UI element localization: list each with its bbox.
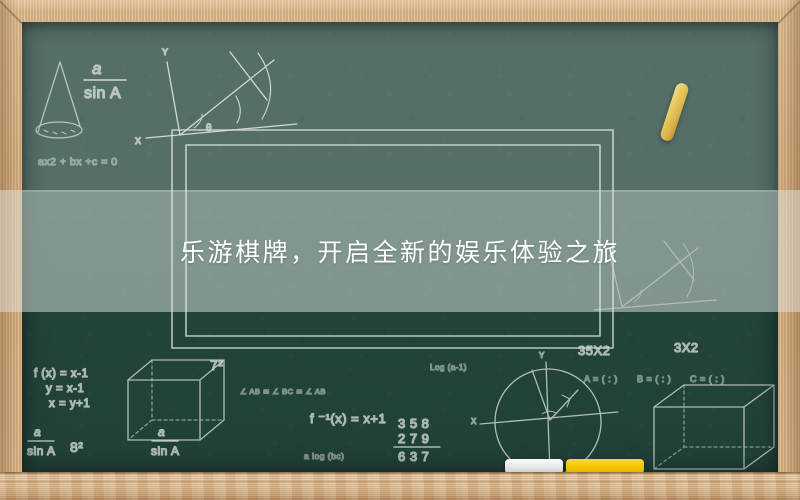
cone-drawing <box>36 62 82 138</box>
ledge-grain-streaks <box>0 472 800 500</box>
axis-label-x-top: X <box>135 136 142 146</box>
axis-label-y-right: Y <box>539 351 545 360</box>
log-small-label: Log (a-1) <box>430 363 467 372</box>
angle-diagram: Y X θ <box>135 47 297 146</box>
matrix-expression-c: C = ( : ) <box>690 374 725 384</box>
inverse-function-expression: f ⁻¹(x) = x+1 <box>310 411 386 426</box>
caption-band: 乐游棋牌，开启全新的娱乐体验之旅 <box>0 190 800 312</box>
square-eight: 8² <box>70 439 83 455</box>
angle-symbol-top: θ <box>206 123 212 134</box>
fraction-a-over-sinA-cube: a sin A <box>151 425 180 458</box>
axis-label-x-right: X <box>471 417 477 426</box>
square-seven: 7² <box>210 357 223 373</box>
matrix-label-b: 3X2 <box>674 340 699 355</box>
quadratic-equation: ax2 + bx +c = 0 <box>38 156 118 168</box>
ledge-lip-line <box>0 481 800 482</box>
fraction-a-over-sinA-bottom-left: a sin A <box>27 425 56 458</box>
matrix-expression-b: B = ( : ) <box>637 374 671 384</box>
function-line-1: f (x) = x-1 <box>34 368 88 380</box>
fraction-numerator-top: a <box>92 59 102 78</box>
congruence-expression: ∠ AB ≅ ∠ BC ≅ ∠ AB <box>240 387 326 396</box>
log-expression: a log (bc) <box>304 451 344 461</box>
matrix-label-a: 35X2 <box>578 343 610 358</box>
arithmetic-row-2: 2 7 9 <box>398 431 429 446</box>
chalkboard-banner: a sin A ax2 + bx +c = 0 Y X <box>0 0 800 500</box>
function-lines-group: f (x) = x-1 y = x-1 x = y+1 <box>34 368 90 410</box>
cube-right-drawing <box>654 385 774 469</box>
arithmetic-column: 3 5 8 2 7 9 6 3 7 <box>394 416 440 464</box>
function-line-2: y = x-1 <box>46 383 84 395</box>
banner-headline: 乐游棋牌，开启全新的娱乐体验之旅 <box>180 233 620 269</box>
fraction-a-over-sinA-top: a sin A <box>84 59 126 102</box>
function-line-3: x = y+1 <box>49 398 90 410</box>
fraction-numerator-bl: a <box>34 425 41 439</box>
fraction-numerator-cube: a <box>158 425 165 439</box>
arithmetic-row-1: 3 5 8 <box>398 416 429 431</box>
fraction-denominator-bl: sin A <box>27 444 56 458</box>
fraction-denominator-cube: sin A <box>151 444 180 458</box>
matrix-expression-a: A = ( : ) <box>584 374 618 384</box>
chalkboard-ledge <box>0 472 800 500</box>
axis-label-y-top: Y <box>162 47 169 57</box>
fraction-denominator-top: sin A <box>84 85 121 102</box>
circle-axes-diagram: Y X <box>471 351 618 472</box>
arithmetic-result: 6 3 7 <box>398 449 429 464</box>
